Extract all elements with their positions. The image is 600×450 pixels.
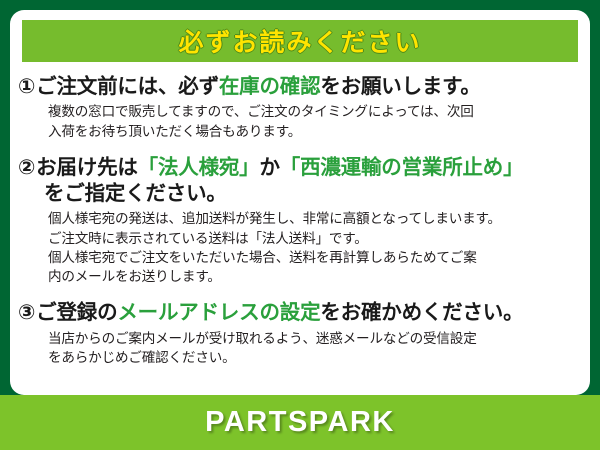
page-title: 必ずお読みください — [178, 23, 421, 59]
notice-item-1-detail: 複数の窓口で販売してますので、ご注文のタイミングによっては、次回 入荷をお待ち頂… — [48, 102, 578, 141]
footer-band: PARTSPARK — [0, 395, 600, 450]
brand-logo-text: PARTSPARK — [0, 395, 600, 450]
notice-body: ①ご注文前には、必ず在庫の確認をお願いします。 複数の窓口で販売してますので、ご… — [10, 68, 590, 395]
circled-number-2-icon: ② — [18, 156, 35, 179]
notice-item-3-heading: ③ご登録のメールアドレスの設定をお確かめください。 — [18, 300, 578, 326]
notice-item-2-head-a: お届け先は — [36, 156, 138, 179]
notice-item-2-heading: ②お届け先は「法人様宛」か「西濃運輸の営業所止め」 — [18, 155, 578, 181]
notice-item-1-head-b: をお願いします。 — [320, 75, 480, 98]
notice-item-3-head-b: をお確かめください。 — [320, 301, 523, 324]
notice-item-2-heading-line-2: をご指定ください。 — [44, 181, 578, 207]
notice-item-2: ②お届け先は「法人様宛」か「西濃運輸の営業所止め」 をご指定ください。 個人様宅… — [18, 155, 578, 287]
notice-item-2-detail-line-3: 個人様宅宛でご注文をいただいた場合、送料を再計算しあらためてご案 — [48, 248, 578, 267]
notice-item-3: ③ご登録のメールアドレスの設定をお確かめください。 当店からのご案内メールが受け… — [18, 300, 578, 367]
notice-item-3-detail-line-2: をあらかじめご確認ください。 — [48, 348, 578, 367]
notice-item-3-detail-line-1: 当店からのご案内メールが受け取れるよう、迷惑メールなどの受信設定 — [48, 329, 578, 348]
notice-item-3-detail: 当店からのご案内メールが受け取れるよう、迷惑メールなどの受信設定 をあらかじめご… — [48, 329, 578, 368]
notice-item-2-detail-line-4: 内のメールをお送りします。 — [48, 267, 578, 286]
notice-item-3-head-a: ご登録の — [36, 301, 117, 324]
notice-card: 必ずお読みください ①ご注文前には、必ず在庫の確認をお願いします。 複数の窓口で… — [10, 10, 590, 395]
notice-item-2-detail: 個人様宅宛の発送は、追加送料が発生し、非常に高額となってしまいます。 ご注文時に… — [48, 209, 578, 286]
notice-item-2-detail-line-2: ご注文時に表示されている送料は「法人送料」です。 — [48, 229, 578, 248]
notice-item-1: ①ご注文前には、必ず在庫の確認をお願いします。 複数の窓口で販売してますので、ご… — [18, 74, 578, 141]
notice-item-2-head-mid: か — [259, 156, 279, 179]
notice-item-2-highlight-2: 「西濃運輸の営業所止め」 — [280, 156, 524, 179]
notice-item-2-highlight-1: 「法人様宛」 — [138, 156, 260, 179]
circled-number-3-icon: ③ — [18, 301, 35, 324]
title-bar: 必ずお読みください — [22, 20, 578, 62]
circled-number-1-icon: ① — [18, 75, 35, 98]
notice-item-1-head-a: ご注文前には、必ず — [36, 75, 219, 98]
notice-image: { "colors": { "frame_dark_green": "#0066… — [0, 0, 600, 450]
notice-item-3-highlight: メールアドレスの設定 — [117, 301, 320, 324]
notice-item-1-heading: ①ご注文前には、必ず在庫の確認をお願いします。 — [18, 74, 578, 100]
notice-item-1-detail-line-1: 複数の窓口で販売してますので、ご注文のタイミングによっては、次回 — [48, 102, 578, 121]
notice-item-2-detail-line-1: 個人様宅宛の発送は、追加送料が発生し、非常に高額となってしまいます。 — [48, 209, 578, 228]
notice-item-1-detail-line-2: 入荷をお待ち頂いただく場合もあります。 — [48, 122, 578, 141]
notice-item-1-highlight: 在庫の確認 — [219, 75, 321, 98]
